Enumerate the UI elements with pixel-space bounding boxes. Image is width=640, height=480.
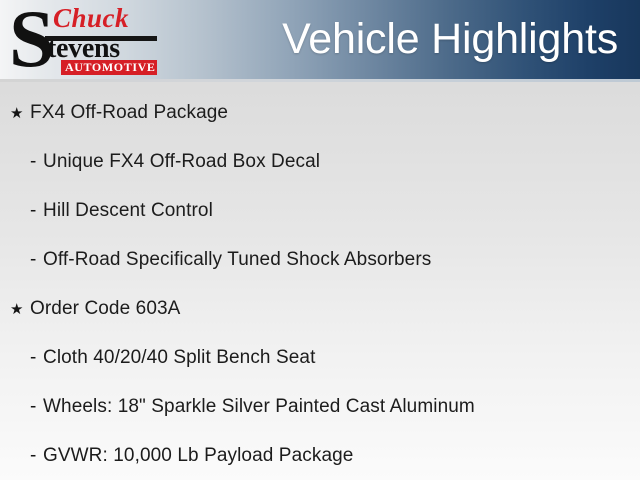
header-divider [0, 79, 640, 82]
dealer-logo[interactable]: S Chuck tevens AUTOMOTIVE [9, 2, 167, 77]
list-item: -Cloth 40/20/40 Split Bench Seat [0, 333, 640, 382]
list-item-label: Unique FX4 Off-Road Box Decal [43, 137, 320, 186]
list-item-label: Order Code 603A [30, 284, 180, 333]
dash-bullet-icon: - [30, 235, 43, 284]
list-item: -GVWR: 10,000 Lb Payload Package [0, 431, 640, 480]
list-item-label: Hill Descent Control [43, 186, 213, 235]
star-bullet-icon: ★ [10, 89, 30, 138]
list-item: -Off-Road Specifically Tuned Shock Absor… [0, 235, 640, 284]
dash-bullet-icon: - [30, 186, 43, 235]
page-title: Vehicle Highlights [282, 12, 618, 66]
list-item: ★FX4 Off-Road Package [0, 88, 640, 137]
list-item: ★Order Code 603A [0, 284, 640, 333]
star-bullet-icon: ★ [10, 285, 30, 334]
list-item: -Unique FX4 Off-Road Box Decal [0, 137, 640, 186]
list-item: -Hill Descent Control [0, 186, 640, 235]
logo-name-chuck: Chuck [53, 5, 129, 32]
dash-bullet-icon: - [30, 137, 43, 186]
dash-bullet-icon: - [30, 431, 43, 480]
list-item-label: Cloth 40/20/40 Split Bench Seat [43, 333, 315, 382]
dash-bullet-icon: - [30, 382, 43, 431]
highlights-list: ★FX4 Off-Road Package-Unique FX4 Off-Roa… [0, 88, 640, 480]
vehicle-highlights-slide: Vehicle Highlights S Chuck tevens AUTOMO… [0, 0, 640, 480]
list-item: -Wheels: 18" Sparkle Silver Painted Cast… [0, 382, 640, 431]
list-item-label: Off-Road Specifically Tuned Shock Absorb… [43, 235, 431, 284]
dash-bullet-icon: - [30, 333, 43, 382]
list-item-label: FX4 Off-Road Package [30, 88, 228, 137]
list-item-label: Wheels: 18" Sparkle Silver Painted Cast … [43, 382, 475, 431]
logo-name-stevens: tevens [47, 35, 120, 63]
logo-tagline-automotive: AUTOMOTIVE [65, 60, 155, 75]
list-item-label: GVWR: 10,000 Lb Payload Package [43, 431, 353, 480]
